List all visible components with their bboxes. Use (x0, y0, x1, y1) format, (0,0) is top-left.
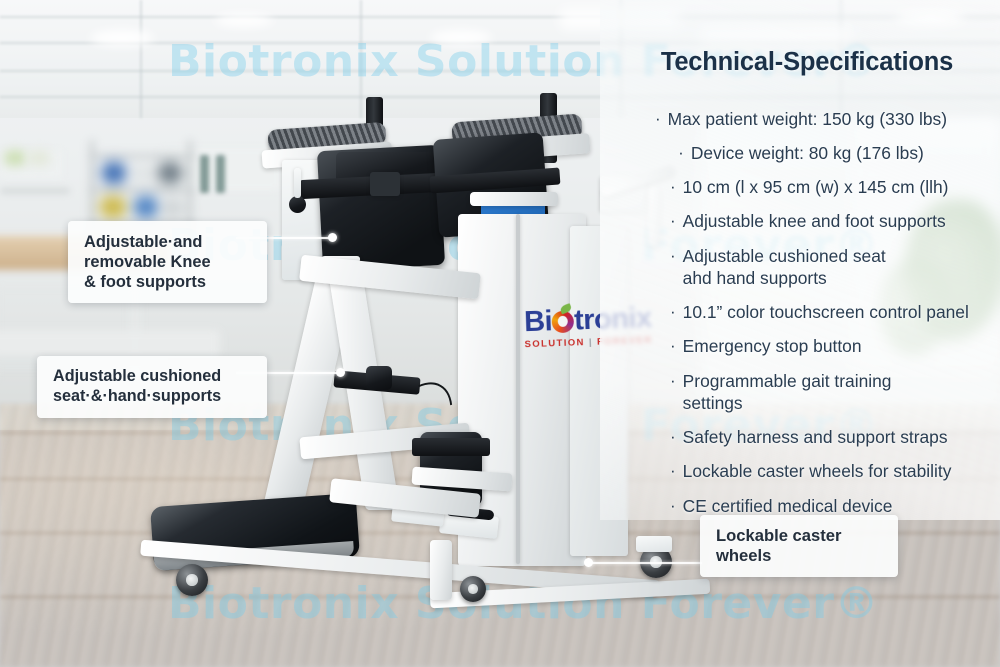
spec-item: · 10.1” color touchscreen control panel (608, 301, 994, 324)
caster-wheel-front-left (176, 564, 208, 596)
logo-tagline-left: SOLUTION (524, 337, 585, 350)
bullet-icon: · (670, 210, 676, 232)
bullet-icon: · (655, 108, 661, 130)
callout-lockable-caster-wheels[interactable]: Lockable caster wheels (700, 515, 898, 577)
callout-text: Lockable caster wheels (716, 526, 841, 565)
bullet-icon: · (670, 426, 676, 448)
callout-leader-line-3 (588, 562, 702, 564)
spec-item: · Max patient weight: 150 kg (330 lbs) (608, 108, 994, 131)
spec-item: · Lockable caster wheels for stability (608, 460, 994, 483)
bullet-icon: · (670, 335, 676, 357)
logo-text-part1: Bi (524, 305, 553, 338)
bullet-icon: · (670, 460, 676, 482)
bullet-icon: · (670, 245, 676, 267)
spec-item-text: 10 cm (l x 95 cm (w) x 145 cm (llh) (683, 176, 949, 199)
apple-icon (552, 310, 575, 333)
spec-item: · CE certified medical device (608, 495, 994, 518)
spec-item: · Adjustable cushioned seat ahd hand sup… (608, 245, 994, 290)
page-title: Technical-Specifications (622, 48, 992, 77)
specifications-list: · Max patient weight: 150 kg (330 lbs) ·… (608, 108, 994, 529)
caster-wheel-center (460, 576, 486, 602)
spec-item: · Safety harness and support straps (608, 426, 994, 449)
bullet-icon: · (670, 495, 676, 517)
spec-item-text: Programmable gait training settings (683, 370, 892, 415)
bullet-icon: · (670, 301, 676, 323)
spec-item-text: Adjustable knee and foot supports (683, 210, 946, 233)
spec-item: · 10 cm (l x 95 cm (w) x 145 cm (llh) (608, 176, 994, 199)
technical-specifications-panel: Technical-Specifications · Max patient w… (600, 0, 1000, 520)
bullet-icon: · (670, 176, 676, 198)
spec-item: · Device weight: 80 kg (176 lbs) (608, 142, 994, 165)
spec-item: · Programmable gait training settings (608, 370, 994, 415)
callout-knee-foot-supports[interactable]: Adjustable·and removable Knee & foot sup… (68, 221, 267, 303)
product-infographic: Biotronix Solution Forever® Biotronix So… (0, 0, 1000, 667)
callout-text: Adjustable cushioned seat·&·hand·support… (53, 367, 221, 405)
callout-text: Adjustable·and removable Knee & foot sup… (84, 233, 211, 291)
bullet-icon: · (670, 370, 676, 392)
logo-tagline-separator: | (589, 337, 593, 348)
spec-item-text: Adjustable cushioned seat ahd hand suppo… (683, 245, 886, 290)
callout-leader-dot-3 (584, 558, 593, 567)
callout-seat-hand-supports[interactable]: Adjustable cushioned seat·&·hand·support… (37, 356, 267, 418)
spec-item-text: Max patient weight: 150 kg (330 lbs) (668, 108, 947, 131)
spec-item-text: Device weight: 80 kg (176 lbs) (691, 142, 924, 165)
bullet-icon: · (678, 142, 684, 164)
spec-item-text: Safety harness and support straps (683, 426, 948, 449)
spec-item: · Emergency stop button (608, 335, 994, 358)
callout-leader-dot-1 (328, 233, 337, 242)
spec-item-text: Lockable caster wheels for stability (683, 460, 952, 483)
spec-item-text: 10.1” color touchscreen control panel (683, 301, 969, 324)
spec-item-text: Emergency stop button (683, 335, 862, 358)
spec-item-text: CE certified medical device (683, 495, 893, 518)
spec-item: · Adjustable knee and foot supports (608, 210, 994, 233)
callout-leader-dot-2 (336, 368, 345, 377)
